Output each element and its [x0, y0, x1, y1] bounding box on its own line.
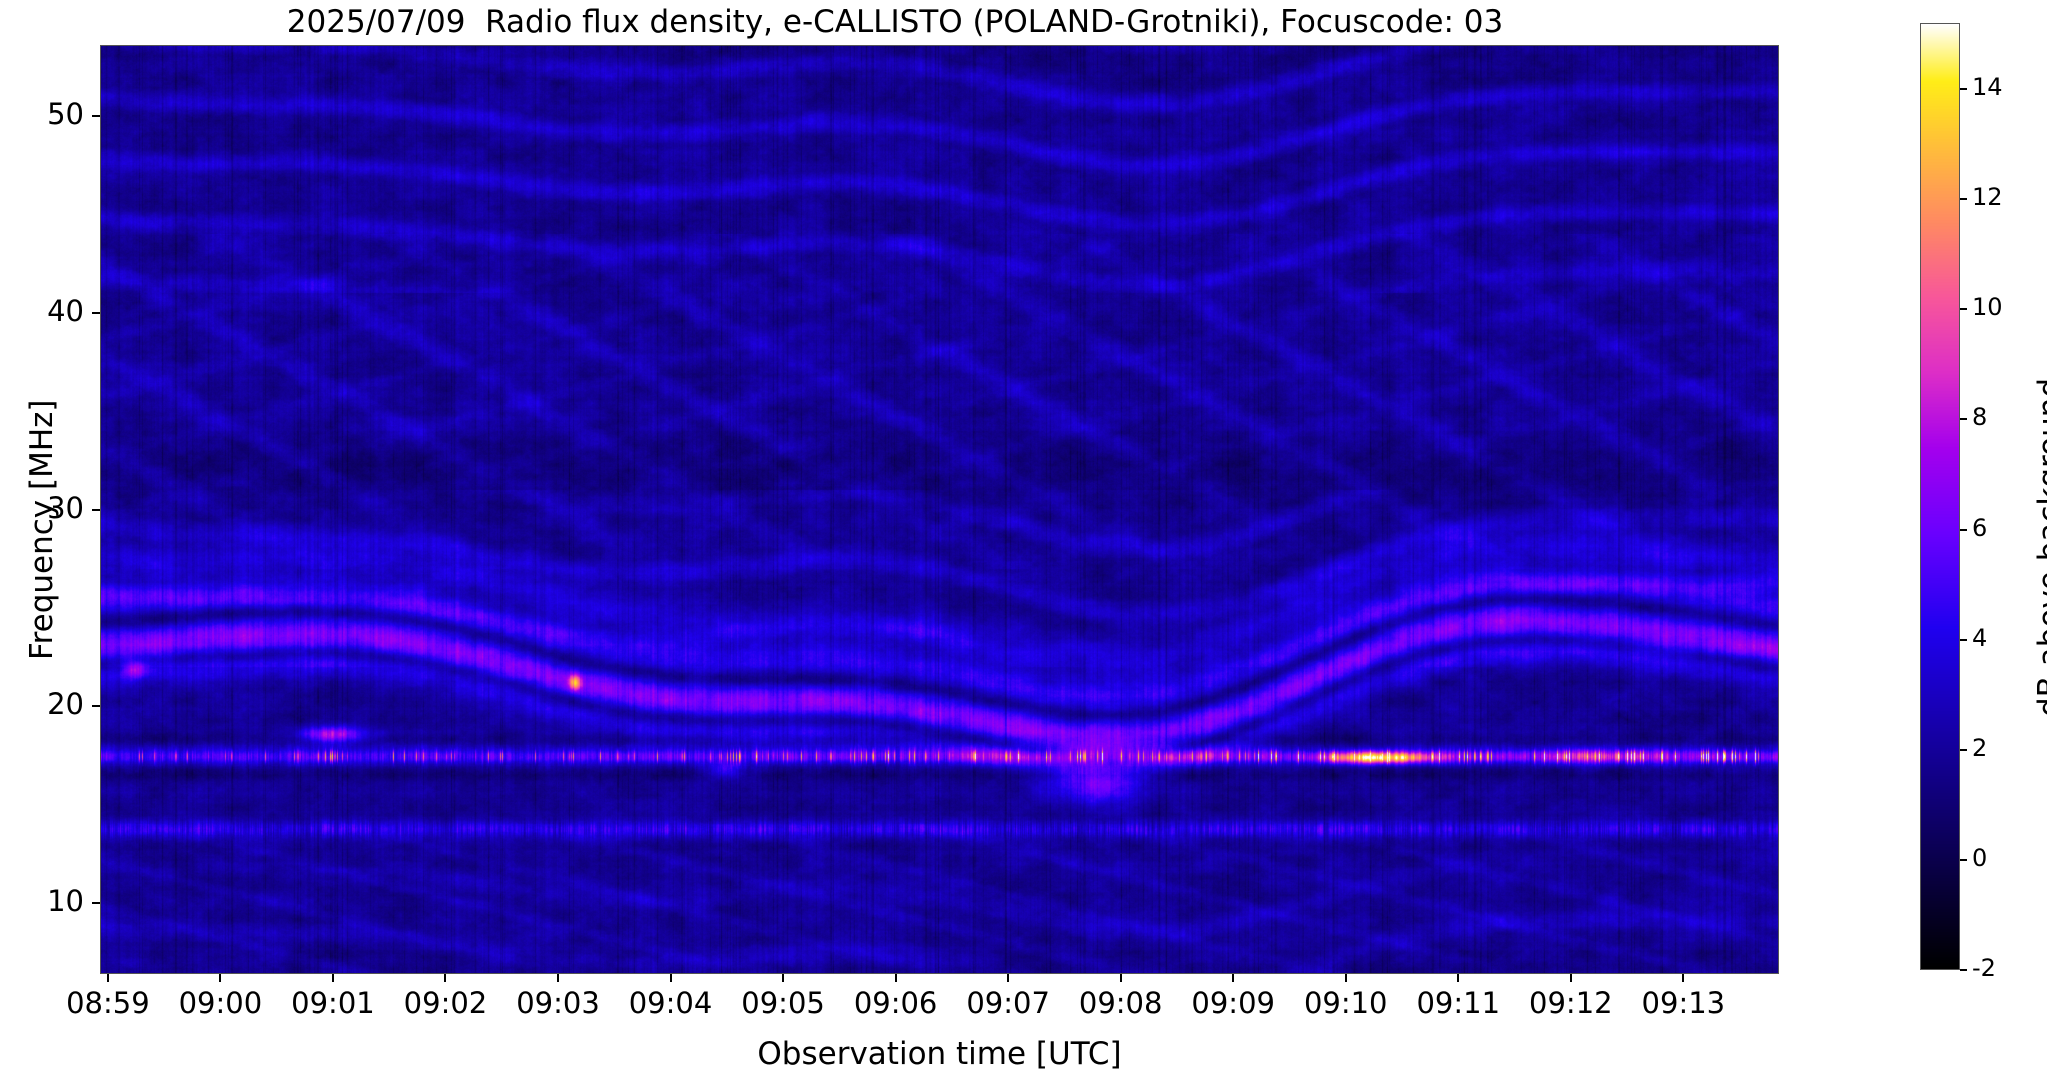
- y-tick-mark: [92, 312, 100, 314]
- y-tick-mark: [92, 115, 100, 117]
- x-tick-mark: [1457, 974, 1459, 982]
- x-tick-mark: [895, 974, 897, 982]
- x-tick-mark: [1007, 974, 1009, 982]
- x-tick-mark: [219, 974, 221, 982]
- colorbar-tick-mark: [1960, 969, 1967, 971]
- y-tick-mark: [92, 902, 100, 904]
- x-tick-mark: [670, 974, 672, 982]
- colorbar-tick-label: 2: [1972, 734, 1987, 762]
- page-title: 2025/07/09 Radio flux density, e-CALLIST…: [0, 4, 1790, 40]
- x-tick-mark: [444, 974, 446, 982]
- x-tick-mark: [557, 974, 559, 982]
- colorbar-tick-label: 14: [1972, 73, 2003, 101]
- x-tick-mark: [107, 974, 109, 982]
- spectrogram-image: [100, 45, 1779, 974]
- spectrogram-page: 2025/07/09 Radio flux density, e-CALLIST…: [0, 0, 2047, 1067]
- x-tick-mark: [782, 974, 784, 982]
- colorbar-gradient: [1921, 24, 1959, 969]
- colorbar-tick-mark: [1960, 88, 1967, 90]
- colorbar-tick-label: 12: [1972, 183, 2003, 211]
- y-tick-mark: [92, 509, 100, 511]
- y-tick-label: 10: [0, 884, 84, 918]
- colorbar-tick-label: 4: [1972, 624, 1987, 652]
- colorbar: [1920, 23, 1960, 970]
- colorbar-tick-mark: [1960, 198, 1967, 200]
- colorbar-tick-mark: [1960, 859, 1967, 861]
- colorbar-tick-mark: [1960, 308, 1967, 310]
- y-tick-mark: [92, 705, 100, 707]
- x-tick-mark: [1232, 974, 1234, 982]
- y-tick-label: 40: [0, 294, 84, 328]
- colorbar-tick-label: 10: [1972, 293, 2003, 321]
- y-tick-label: 50: [0, 97, 84, 131]
- x-tick-mark: [1570, 974, 1572, 982]
- y-tick-label: 20: [0, 687, 84, 721]
- colorbar-tick-mark: [1960, 418, 1967, 420]
- colorbar-label: dB above background: [2032, 377, 2047, 716]
- colorbar-tick-label: 8: [1972, 403, 1987, 431]
- colorbar-tick-mark: [1960, 639, 1967, 641]
- y-axis-label: Frequency [MHz]: [24, 399, 60, 660]
- colorbar-tick-label: -2: [1972, 954, 1996, 982]
- x-tick-label: 09:13: [1613, 986, 1753, 1020]
- x-tick-mark: [1120, 974, 1122, 982]
- colorbar-tick-mark: [1960, 529, 1967, 531]
- colorbar-tick-mark: [1960, 749, 1967, 751]
- x-tick-mark: [1682, 974, 1684, 982]
- x-tick-mark: [332, 974, 334, 982]
- spectrogram-plot-area: [100, 45, 1779, 974]
- x-tick-mark: [1345, 974, 1347, 982]
- colorbar-tick-label: 0: [1972, 844, 1987, 872]
- colorbar-tick-label: 6: [1972, 514, 1987, 542]
